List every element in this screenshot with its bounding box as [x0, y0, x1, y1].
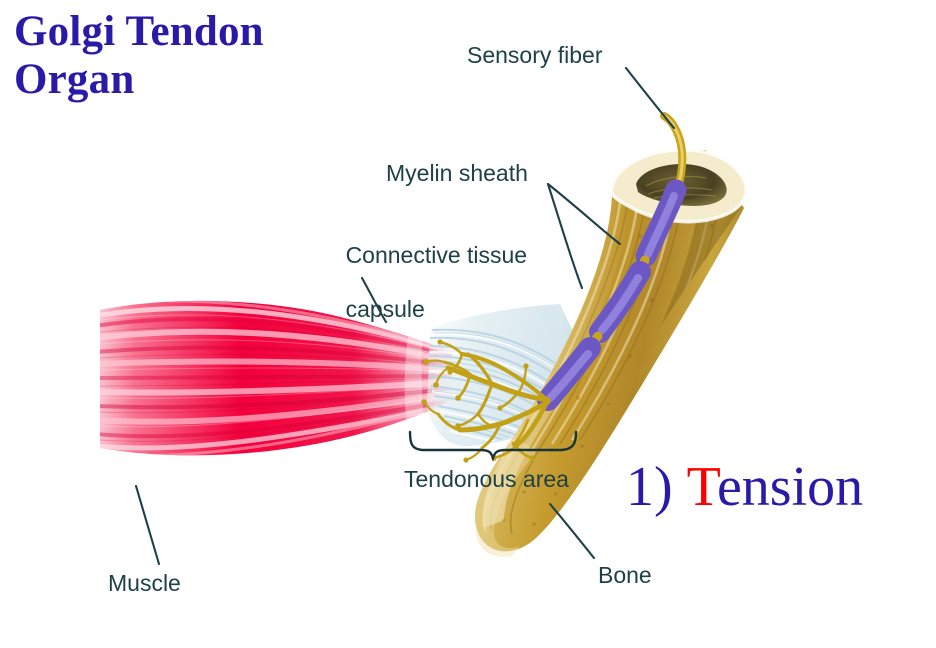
label-myelin-sheath: Myelin sheath [386, 160, 528, 187]
leader-muscle [136, 486, 159, 564]
label-capsule-line1: Connective tissue [346, 242, 528, 268]
caption-first-letter: T [687, 456, 717, 518]
leader-myelin-lower [548, 184, 582, 288]
page-title: Golgi Tendon Organ [14, 8, 374, 104]
caption-rest: ension [717, 456, 863, 518]
leader-bone [550, 504, 594, 558]
leader-sensory-fiber [626, 68, 674, 128]
label-muscle: Muscle [108, 570, 181, 597]
label-tendonous-area: Tendonous area [404, 466, 569, 493]
label-capsule-line2: capsule [346, 296, 425, 322]
caption-tension: 1) Tension [626, 455, 863, 519]
golgi-tendon-organ-figure: Golgi Tendon Organ Sensory fiber Myelin … [0, 0, 936, 648]
page-title-line1: Golgi Tendon [14, 8, 264, 55]
leader-myelin-upper [548, 184, 620, 244]
caption-number: 1) [626, 456, 673, 518]
page-title-line2: Organ [14, 56, 134, 103]
label-bone: Bone [598, 562, 652, 589]
label-connective-tissue-capsule: Connective tissue capsule [320, 215, 527, 350]
label-sensory-fiber: Sensory fiber [467, 42, 603, 69]
